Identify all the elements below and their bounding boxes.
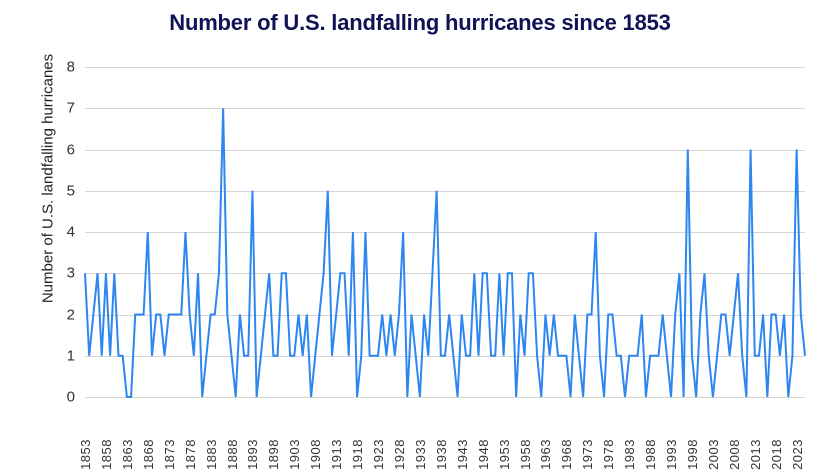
x-axis-tick-label: 1868 [141, 439, 156, 470]
x-axis-tick-label: 1948 [476, 439, 491, 470]
x-axis-tick-label: 1898 [266, 439, 281, 470]
x-axis-tick-label: 2013 [748, 439, 763, 470]
x-axis-tick-label: 1973 [580, 439, 595, 470]
x-axis-tick-label: 1873 [162, 439, 177, 470]
x-axis-tick-label: 1903 [287, 439, 302, 470]
gridline [85, 397, 805, 398]
hurricane-line-chart: Number of U.S. landfalling hurricanes si… [0, 0, 840, 472]
x-axis-tick-label: 1928 [392, 439, 407, 470]
y-axis-tick-label: 1 [35, 347, 75, 364]
x-axis-tick-label: 1988 [643, 439, 658, 470]
x-axis-tick-label: 1993 [664, 439, 679, 470]
x-axis-tick-label: 1918 [350, 439, 365, 470]
y-axis-tick-label: 0 [35, 389, 75, 406]
series-line [85, 67, 805, 397]
x-axis-tick-label: 1878 [183, 439, 198, 470]
y-axis-tick-label: 8 [35, 59, 75, 76]
x-axis-tick-label: 1888 [225, 439, 240, 470]
x-axis-tick-label: 1943 [455, 439, 470, 470]
y-axis-tick-labels: 012345678 [30, 67, 75, 397]
x-axis-tick-label: 2018 [769, 439, 784, 470]
y-axis-tick-label: 6 [35, 141, 75, 158]
x-axis-tick-label: 2008 [727, 439, 742, 470]
y-axis-tick-label: 2 [35, 306, 75, 323]
y-axis-tick-label: 3 [35, 265, 75, 282]
x-axis-tick-label: 2023 [790, 439, 805, 470]
x-axis-tick-label: 1953 [497, 439, 512, 470]
plot-area [85, 67, 805, 397]
x-axis-tick-label: 1983 [622, 439, 637, 470]
x-axis-tick-label: 1923 [371, 439, 386, 470]
x-axis-tick-label: 1883 [204, 439, 219, 470]
series-polyline [85, 108, 805, 397]
x-axis-tick-label: 1963 [538, 439, 553, 470]
y-axis-tick-label: 4 [35, 224, 75, 241]
x-axis-tick-label: 1858 [99, 439, 114, 470]
x-axis-tick-label: 1998 [685, 439, 700, 470]
x-axis-tick-label: 1938 [434, 439, 449, 470]
y-axis-tick-label: 7 [35, 100, 75, 117]
x-axis-tick-label: 1863 [120, 439, 135, 470]
x-axis-tick-labels: 1853185818631868187318781883188818931898… [85, 400, 805, 470]
x-axis-tick-label: 1913 [329, 439, 344, 470]
x-axis-tick-label: 1908 [308, 439, 323, 470]
x-axis-tick-label: 2003 [706, 439, 721, 470]
x-axis-tick-label: 1893 [245, 439, 260, 470]
y-axis-tick-label: 5 [35, 182, 75, 199]
x-axis-tick-label: 1978 [601, 439, 616, 470]
chart-title: Number of U.S. landfalling hurricanes si… [0, 10, 840, 36]
x-axis-tick-label: 1853 [78, 439, 93, 470]
x-axis-tick-label: 1958 [518, 439, 533, 470]
x-axis-tick-label: 1968 [559, 439, 574, 470]
x-axis-tick-label: 1933 [413, 439, 428, 470]
